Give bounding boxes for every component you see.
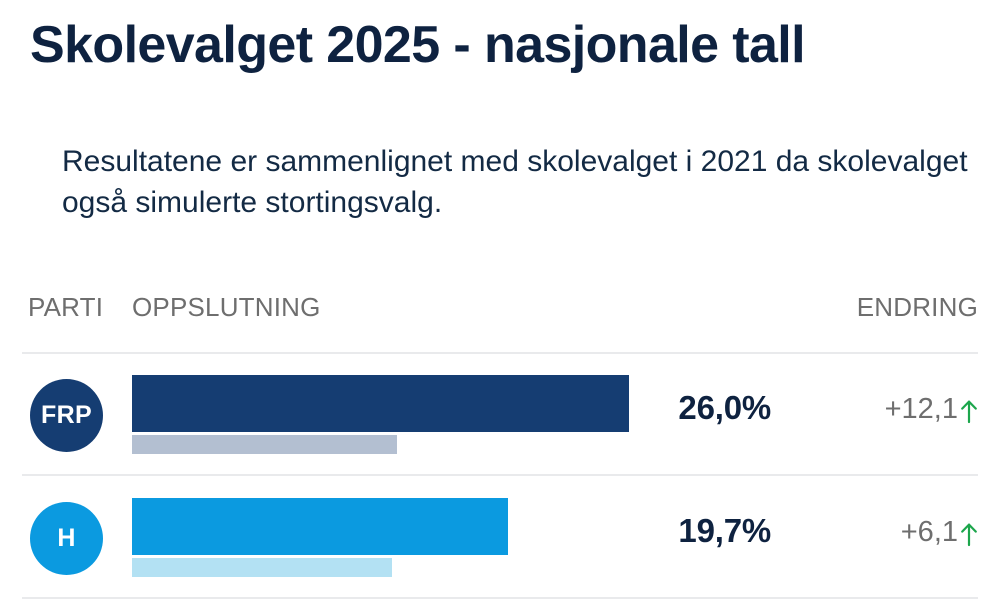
table-row[interactable]: FRP 26,0% +12,1 [0, 353, 1000, 475]
bar-previous-year [132, 558, 392, 577]
row-divider [22, 597, 978, 599]
change-value-group: +6,1 [901, 516, 978, 549]
party-badge: FRP [30, 379, 103, 452]
party-abbreviation: FRP [41, 401, 92, 430]
arrow-up-icon [960, 521, 978, 547]
party-badge: H [30, 502, 103, 575]
page-title: Skolevalget 2025 - nasjonale tall [30, 16, 980, 74]
change-value: +6,1 [901, 516, 958, 549]
arrow-up-icon [960, 398, 978, 424]
table-column-headers: PARTI OPPSLUTNING ENDRING [0, 292, 1000, 330]
change-value-group: +12,1 [885, 393, 978, 426]
support-value: 26,0% [678, 389, 771, 427]
support-value: 19,7% [678, 512, 771, 550]
bar-current-year [132, 498, 508, 555]
page-subtitle: Resultatene er sammenlignet med skoleval… [62, 142, 972, 224]
column-header-support: OPPSLUTNING [132, 292, 321, 323]
column-header-change: ENDRING [857, 292, 978, 323]
skolevalget-results-card: Skolevalget 2025 - nasjonale tall Result… [0, 0, 1000, 600]
column-header-party: PARTI [28, 292, 103, 323]
table-row[interactable]: H 19,7% +6,1 [0, 476, 1000, 598]
change-value: +12,1 [885, 393, 958, 426]
party-abbreviation: H [57, 524, 75, 553]
bar-current-year [132, 375, 629, 432]
bar-previous-year [132, 435, 397, 454]
